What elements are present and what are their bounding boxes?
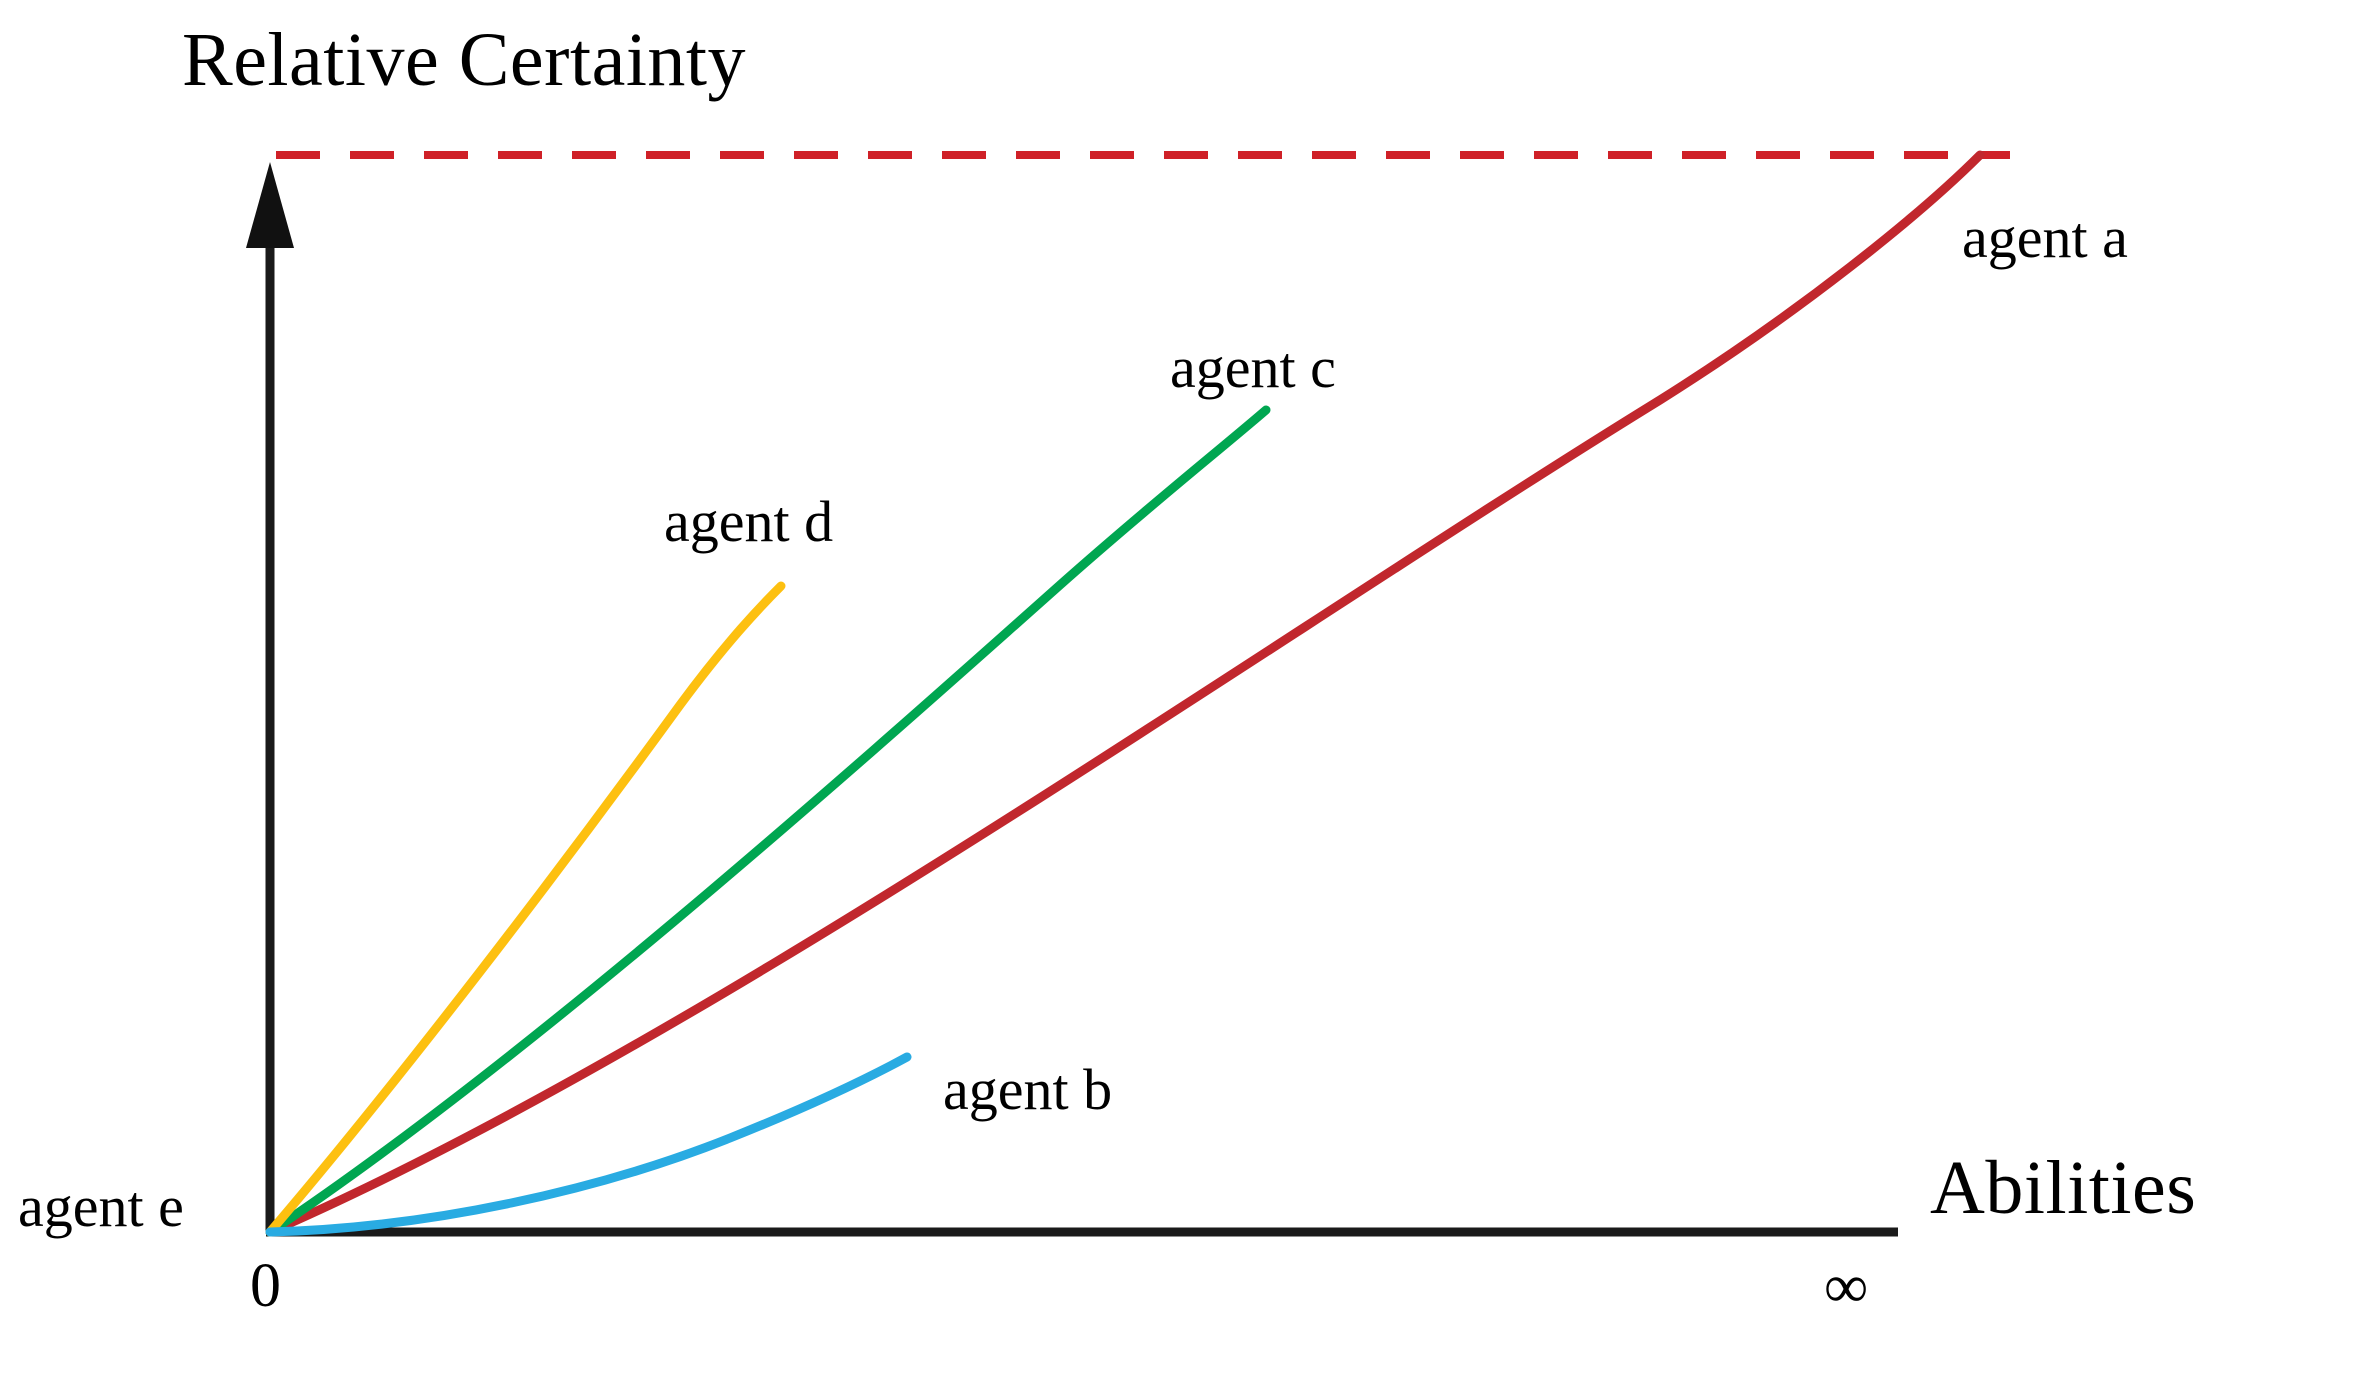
series-label-agent-e: agent e [18, 1178, 184, 1236]
chart-title: Relative Certainty [182, 22, 746, 98]
curve-agent-b [270, 1057, 907, 1232]
x-axis-label: Abilities [1930, 1150, 2196, 1226]
relative-certainty-chart: Relative Certainty Abilities 0 ∞ agent a… [0, 0, 2364, 1393]
series-label-agent-a: agent a [1962, 209, 2128, 267]
series-label-agent-d: agent d [664, 493, 833, 551]
y-axis-arrowhead-icon [246, 162, 294, 248]
curve-agent-d [270, 586, 781, 1232]
x-tick-zero: 0 [250, 1255, 281, 1317]
curve-agent-a [270, 155, 1980, 1232]
x-tick-infinity: ∞ [1824, 1256, 1868, 1318]
series-label-agent-c: agent c [1170, 339, 1336, 397]
series-label-agent-b: agent b [943, 1061, 1112, 1119]
